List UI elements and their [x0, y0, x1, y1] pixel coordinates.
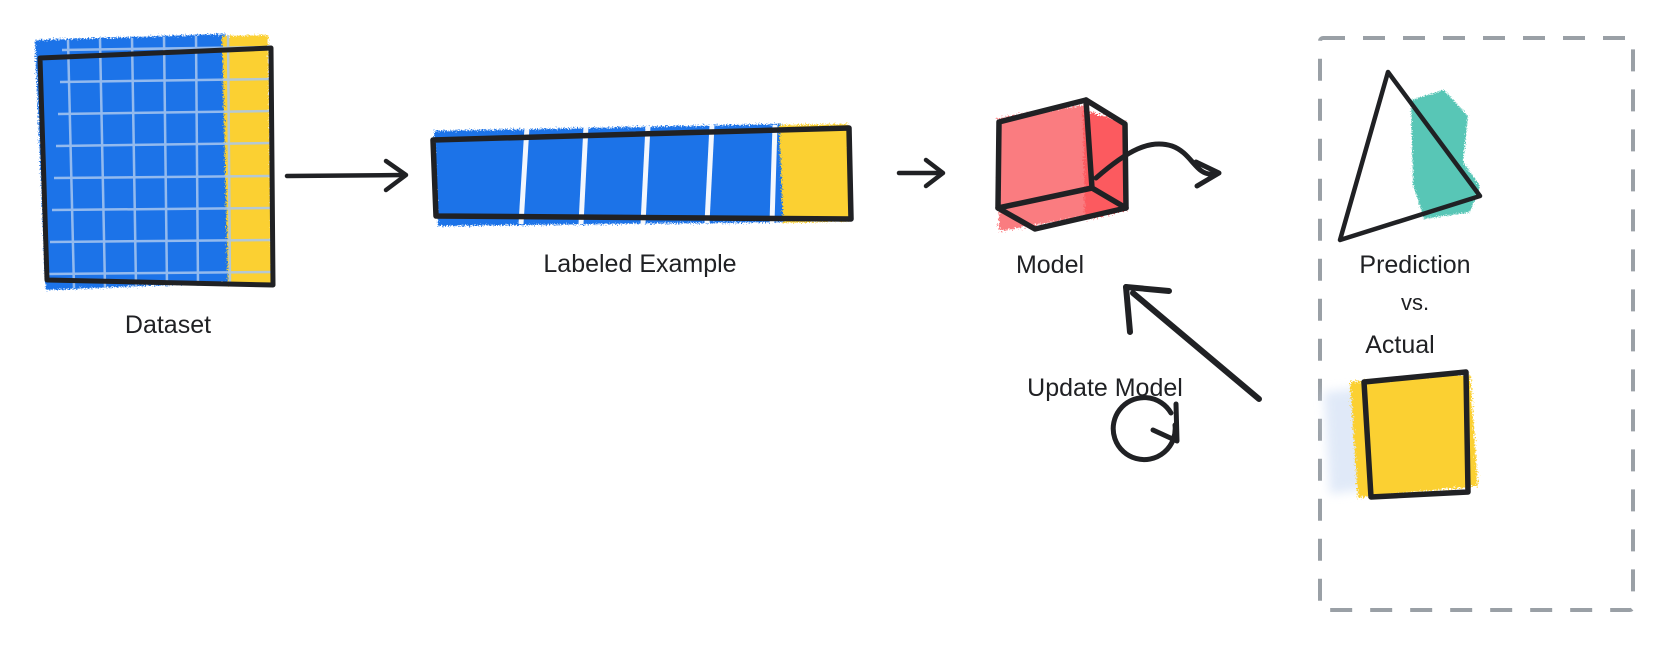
labeled-example-label: Labeled Example	[480, 249, 800, 279]
arrow-example-to-model	[899, 160, 943, 186]
actual-label: Actual	[1330, 330, 1470, 360]
triangle-outline-icon	[1340, 72, 1480, 240]
diagram-canvas: Dataset Labeled Example Model Update Mod…	[0, 0, 1660, 668]
prediction-label: Prediction	[1310, 250, 1520, 280]
update-model-label: Update Model	[1005, 373, 1205, 403]
arrow-dataset-to-example	[287, 161, 406, 190]
circular-refresh-icon	[1113, 398, 1177, 460]
model-label: Model	[975, 250, 1125, 280]
dataset-label: Dataset	[78, 310, 258, 340]
dataset-grid-icon	[35, 34, 273, 290]
versus-label: vs.	[1355, 288, 1475, 318]
square-outline-icon	[1324, 372, 1478, 498]
row-strip-icon	[433, 124, 851, 226]
evaluation-panel-border	[1320, 38, 1633, 610]
model-cube-icon	[998, 100, 1126, 231]
